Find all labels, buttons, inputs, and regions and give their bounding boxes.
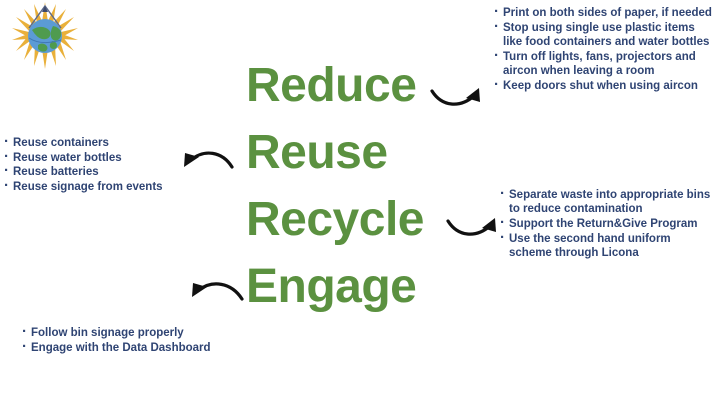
bullet-list-engage: Follow bin signage properly Engage with … [22, 326, 262, 355]
list-item: Stop using single use plastic items like… [494, 21, 716, 49]
heading-reuse: Reuse [246, 119, 466, 186]
bullet-list-recycle: Separate waste into appropriate bins to … [500, 188, 714, 261]
list-item: Print on both sides of paper, if needed [494, 6, 716, 20]
sun-globe-logo [8, 0, 82, 72]
curved-arrow-left-reuse-icon [178, 143, 234, 177]
list-item: Keep doors shut when using aircon [494, 79, 716, 93]
globe-icon [28, 19, 62, 53]
heading-recycle: Recycle [246, 186, 466, 253]
list-item: Use the second hand uniform scheme throu… [500, 232, 714, 260]
list-item: Turn off lights, fans, projectors and ai… [494, 50, 716, 78]
list-item: Support the Return&Give Program [500, 217, 714, 231]
list-item: Reuse signage from events [4, 180, 224, 194]
bullet-list-reduce: Print on both sides of paper, if needed … [494, 6, 716, 93]
curved-arrow-right-reduce-icon [430, 80, 486, 114]
list-item: Follow bin signage properly [22, 326, 262, 340]
curved-arrow-left-engage-icon [186, 274, 244, 308]
heading-engage: Engage [246, 253, 466, 320]
slide-canvas: Reduce Reuse Recycle Engage Print on bot… [0, 0, 720, 405]
curved-arrow-right-recycle-icon [446, 210, 502, 244]
list-item: Separate waste into appropriate bins to … [500, 188, 714, 216]
list-item: Engage with the Data Dashboard [22, 341, 262, 355]
